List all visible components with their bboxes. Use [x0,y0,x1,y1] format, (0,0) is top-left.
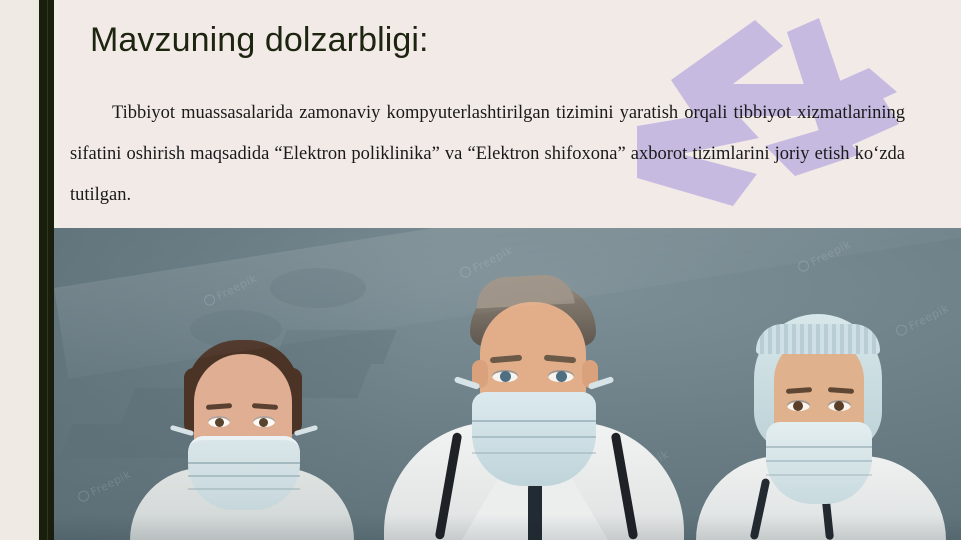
center-doctor-pupil [556,371,567,382]
right-nurse-pupil [793,401,803,411]
presentation-slide: Mavzuning dolzarbligi: Tibbiyot muassasa… [0,0,961,540]
medical-team-photo: Freepik Freepik Freepik Freepik Freepik … [54,228,961,540]
body-paragraph: Tibbiyot muassasalarida zamonaviy kompyu… [70,93,905,216]
center-doctor-pupil [500,371,511,382]
person-left-nurse [122,308,362,540]
left-nurse-pupil [215,418,224,427]
right-nurse-cap-rim [756,324,880,354]
left-edge-light-strip [0,0,37,540]
center-doctor-face-mask [472,392,596,486]
left-nurse-face-mask [188,436,300,510]
left-accent-bar-inner-line [47,0,48,540]
page-title: Mavzuning dolzarbligi: [90,18,429,62]
right-nurse-face-mask [766,422,872,504]
left-nurse-pupil [259,418,268,427]
person-right-nurse [702,278,952,540]
body-paragraph-block: Tibbiyot muassasalarida zamonaviy kompyu… [70,93,905,216]
left-edge-inner-strip [54,0,58,228]
person-center-doctor [384,240,684,540]
right-nurse-pupil [834,401,844,411]
